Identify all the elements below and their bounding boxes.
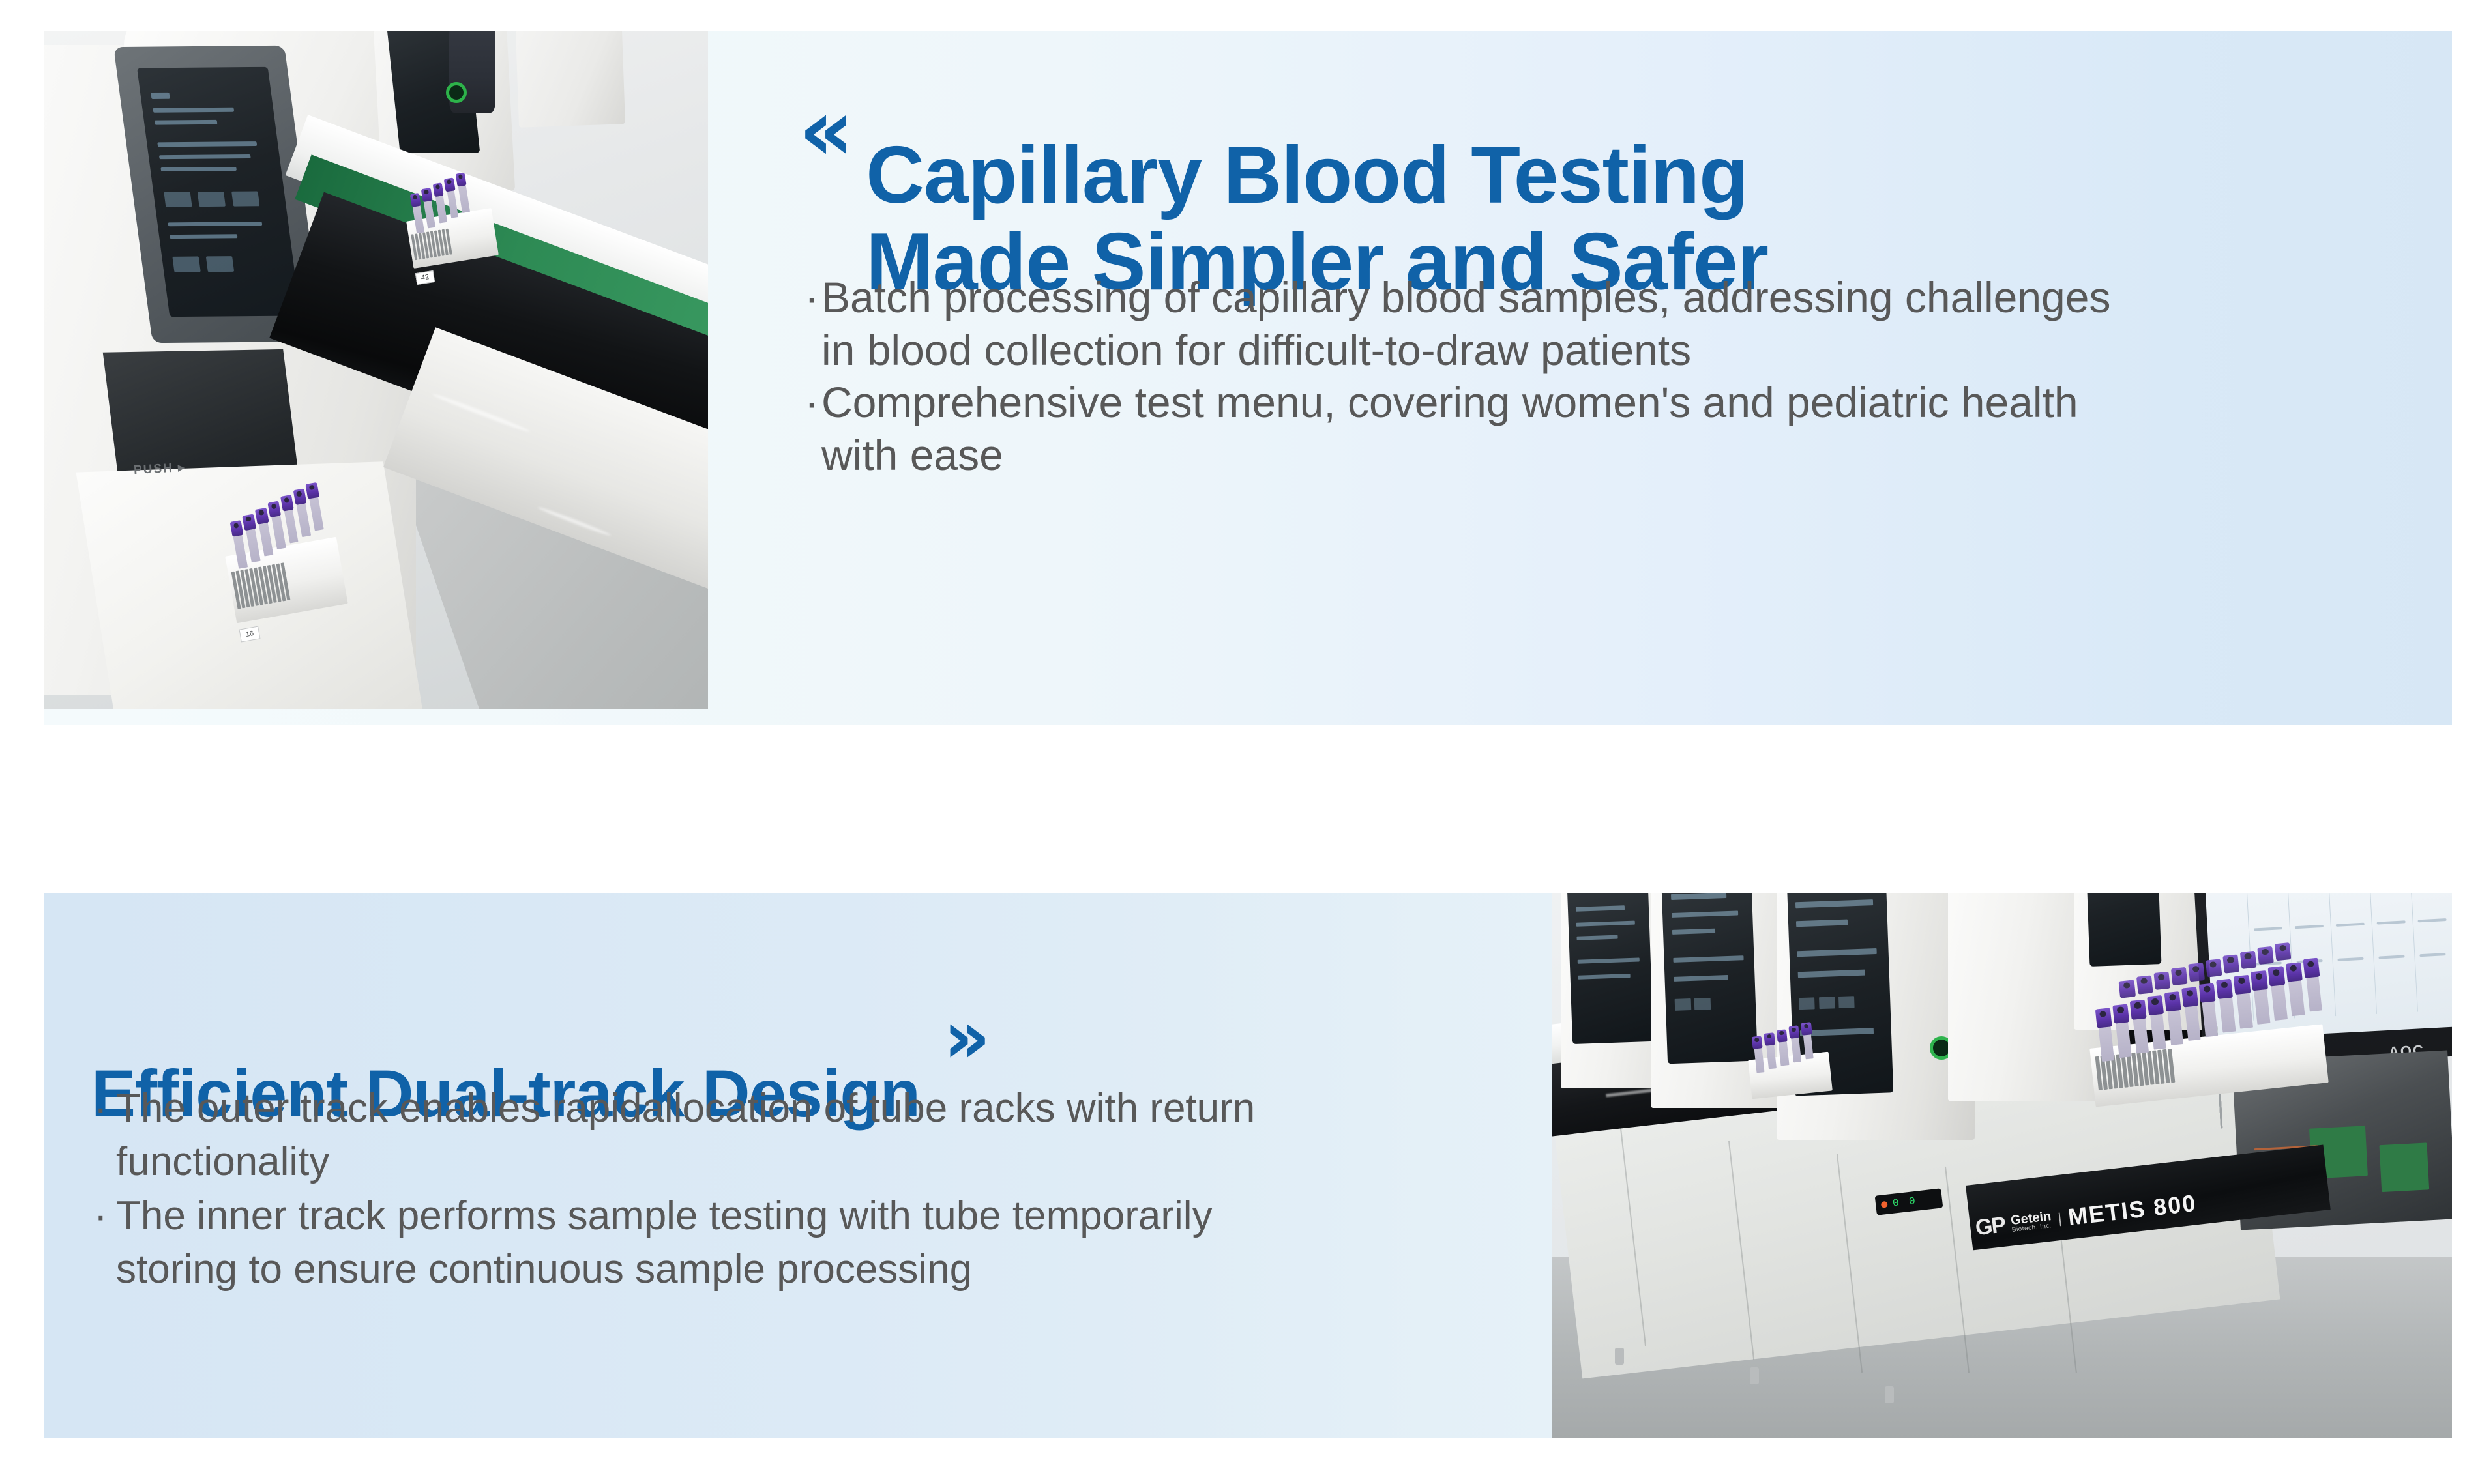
cabinet-foot	[1750, 1367, 1759, 1384]
panel1-text-column: « Capillary Blood Testing Made Simpler a…	[799, 31, 2452, 725]
panel1-bullet-1: · Batch processing of capillary blood sa…	[804, 271, 2148, 376]
panel1-bullet-list: · Batch processing of capillary blood sa…	[804, 271, 2148, 481]
cabinet-foot	[1885, 1386, 1894, 1403]
tube-row-mid	[1747, 1012, 1842, 1073]
analyzer-screen-1	[1567, 893, 1653, 1044]
panel2-bullet-2: · The inner track performs sample testin…	[94, 1189, 1320, 1297]
led-digits: 0 0	[1892, 1195, 1918, 1209]
panel-capillary-blood-testing: PUSH ▸ 16	[44, 31, 2452, 725]
analyzer-module-3	[512, 31, 625, 128]
gp-logo-icon: GP	[1974, 1212, 2006, 1241]
panel2-bullet-2-text: The inner track performs sample testing …	[116, 1189, 1320, 1297]
bullet-marker-icon: ·	[804, 376, 821, 429]
cabinet-foot	[1615, 1348, 1624, 1365]
panel1-photo: PUSH ▸ 16	[44, 31, 708, 709]
panel1-bullet-2: · Comprehensive test menu, covering wome…	[804, 376, 2148, 481]
lab-line-photo-bottom: AOC	[1552, 893, 2452, 1438]
lab-line-photo-top: PUSH ▸ 16	[44, 31, 708, 709]
panel2-photo: AOC	[1552, 893, 2452, 1438]
panel2-bullet-1-text: The outer track enables rapidallocation …	[116, 1082, 1320, 1189]
power-led-icon	[446, 82, 467, 103]
led-orange-icon	[1881, 1201, 1888, 1208]
analyzer-screen-2	[1661, 893, 1758, 1064]
panel2-bullet-list: · The outer track enables rapidallocatio…	[94, 1082, 1320, 1297]
bullet-marker-icon: ·	[804, 271, 821, 324]
panel1-bullet-1-text: Batch processing of capillary blood samp…	[821, 271, 2148, 376]
brand-divider: |	[2057, 1210, 2063, 1227]
bullet-marker-icon: ·	[94, 1082, 116, 1135]
panel1-bullet-2-text: Comprehensive test menu, covering women'…	[821, 376, 2148, 481]
panel2-bullet-1: · The outer track enables rapidallocatio…	[94, 1082, 1320, 1189]
bullet-marker-icon: ·	[94, 1189, 116, 1243]
chevron-left-icon: «	[799, 87, 849, 173]
chevron-right-icon: »	[943, 1001, 986, 1074]
panel-efficient-dual-track-design: Efficient Dual-track Design » · The oute…	[44, 893, 2452, 1438]
push-label: PUSH ▸	[134, 460, 186, 478]
